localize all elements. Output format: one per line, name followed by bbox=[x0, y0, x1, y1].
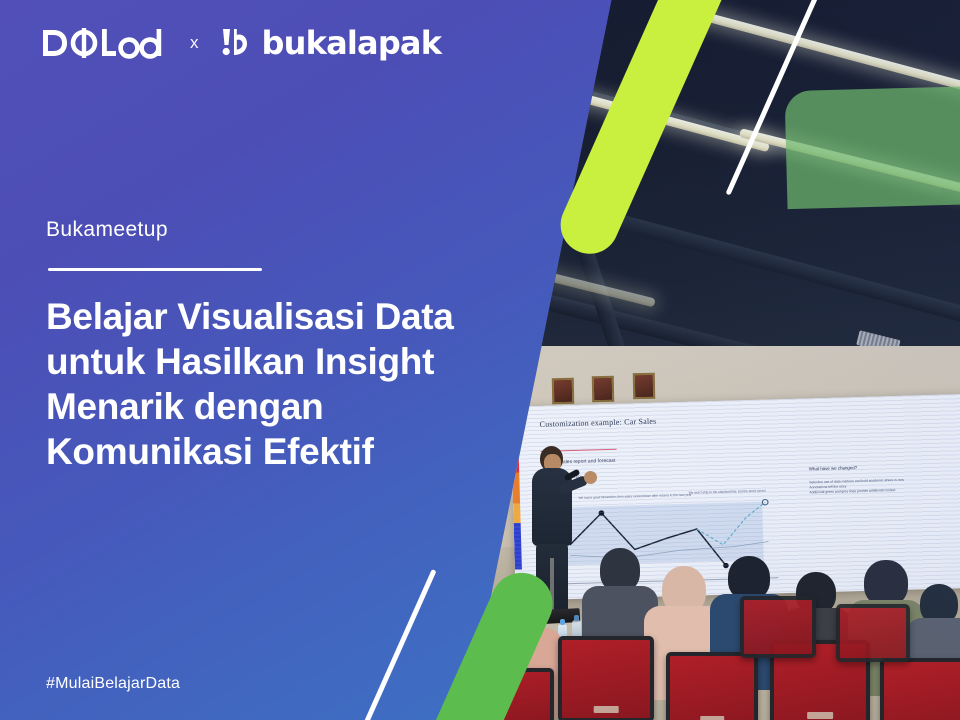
event-hashtag: #MulaiBelajarData bbox=[46, 675, 180, 693]
event-kicker: Bukameetup bbox=[46, 218, 168, 242]
audience-chair bbox=[666, 652, 758, 720]
slide-right-points: Selective use of data markers and bold a… bbox=[809, 475, 960, 495]
audience-chair bbox=[836, 604, 910, 662]
slide-point: Annotations tell the story bbox=[809, 480, 960, 490]
slide-point: Selective use of data markers and bold a… bbox=[809, 475, 960, 485]
chair-tag bbox=[700, 716, 724, 720]
title-line: Menarik dengan bbox=[46, 384, 536, 429]
audience-chair bbox=[880, 658, 960, 720]
promo-banner: Customization example: Car Sales 6-Month… bbox=[0, 0, 960, 720]
audience-chair bbox=[558, 636, 654, 720]
slide-point: Additional green and grey lines provide … bbox=[809, 485, 960, 495]
divider-rule bbox=[48, 268, 262, 271]
event-title: Belajar Visualisasi Data untuk Hasilkan … bbox=[46, 294, 536, 475]
title-line: Belajar Visualisasi Data bbox=[46, 294, 536, 339]
wall-frame bbox=[592, 376, 614, 402]
title-line: Komunikasi Efektif bbox=[46, 429, 536, 474]
chair-tag bbox=[594, 706, 619, 713]
chart-note-left: We had a great November, then sales move… bbox=[578, 492, 691, 499]
chair-tag bbox=[807, 712, 833, 719]
wall-frame bbox=[633, 373, 655, 399]
audience-chair bbox=[740, 596, 816, 658]
text-content: Bukameetup Belajar Visualisasi Data untu… bbox=[46, 0, 566, 720]
chart-note-right: We won't ship to the standard line, but … bbox=[688, 488, 765, 494]
green-overlay-shape bbox=[784, 85, 960, 209]
title-line: untuk Hasilkan Insight bbox=[46, 339, 536, 384]
slide-right-title: What have we changed? bbox=[809, 465, 857, 471]
